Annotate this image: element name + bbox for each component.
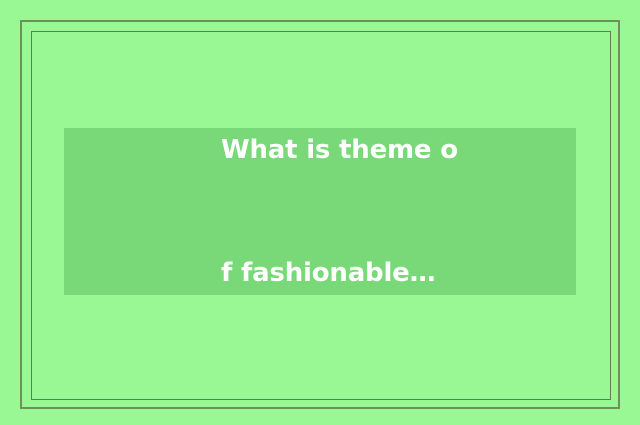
headline-panel: What is theme o f fashionable… xyxy=(64,128,576,295)
headline-line-1: What is theme o xyxy=(221,130,458,171)
headline-line-2: f fashionable… xyxy=(221,253,458,294)
question-card: What is theme o f fashionable… xyxy=(0,0,640,425)
headline-text: What is theme o f fashionable… xyxy=(221,48,458,376)
